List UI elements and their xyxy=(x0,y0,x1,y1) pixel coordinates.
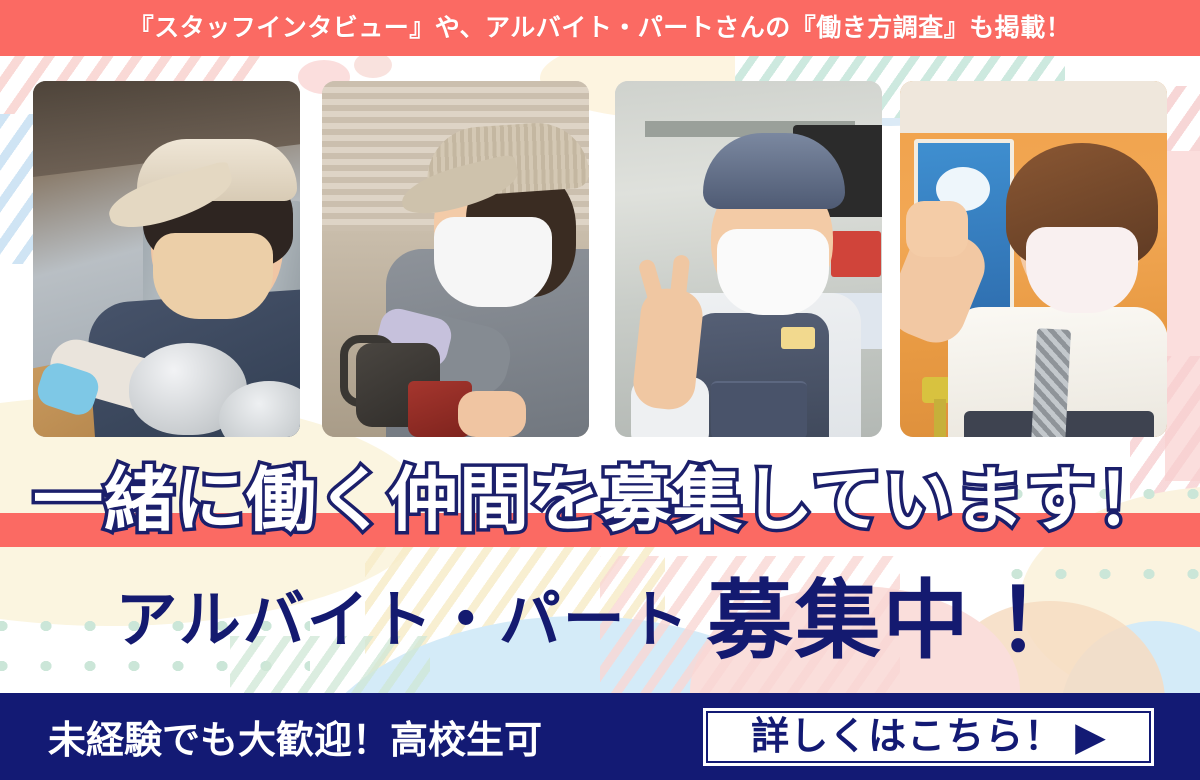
main-headline-part-1: アルバイト・パート xyxy=(115,590,690,652)
main-headline-container: アルバイト・パート 募集中 ！ xyxy=(0,565,1200,677)
main-headline-part-2: 募集中 ！ xyxy=(707,578,1085,664)
blob-pink-small-2 xyxy=(354,56,392,78)
recruitment-banner: 『スタッフインタビュー』や、アルバイト・パートさんの『働き方調査』も掲載！ xyxy=(0,0,1200,780)
headline-container: 一緒に働く仲間を募集しています！ xyxy=(0,455,1200,545)
top-announcement-text: 『スタッフインタビュー』や、アルバイト・パートさんの『働き方調査』も掲載！ xyxy=(129,16,1072,41)
staff-photo-4 xyxy=(900,81,1167,437)
top-announcement-bar: 『スタッフインタビュー』や、アルバイト・パートさんの『働き方調査』も掲載！ xyxy=(0,0,1200,56)
staff-photo-strip xyxy=(0,81,1200,437)
staff-photo-1 xyxy=(33,81,300,437)
staff-photo-2 xyxy=(322,81,589,437)
staff-photo-3 xyxy=(615,81,882,437)
headline-text: 一緒に働く仲間を募集しています！ xyxy=(33,465,1167,535)
details-cta-label: 詳しくはこちら！ xyxy=(751,718,1063,756)
details-cta-button[interactable]: 詳しくはこちら！ ▶ xyxy=(703,708,1154,766)
bottom-note-text: 未経験でも大歓迎！高校生可 xyxy=(48,693,542,780)
play-triangle-icon: ▶ xyxy=(1075,717,1106,757)
